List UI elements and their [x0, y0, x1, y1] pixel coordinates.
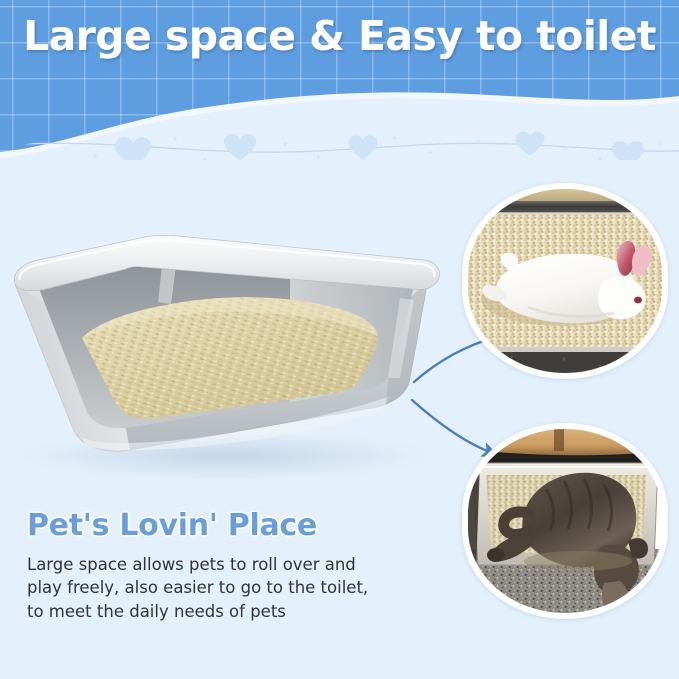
rabbit-photo-rim-edge — [468, 212, 662, 215]
rabbit-eye — [634, 297, 642, 304]
rabbit-photo-counter — [468, 189, 662, 203]
header-banner: Large space & Easy to toilet — [0, 0, 679, 160]
copy-body: Large space allows pets to roll over and… — [27, 553, 447, 623]
copy-body-line: Large space allows pets to roll over and — [27, 553, 447, 576]
page-title: Large space & Easy to toilet — [0, 12, 679, 60]
copy-body-line: to meet the daily needs of pets — [27, 600, 447, 623]
rabbit-photo-back-rail — [468, 201, 662, 213]
rabbit-photo-floor — [468, 352, 662, 373]
cat-photo-wood-seam — [554, 429, 564, 451]
photo-clip — [468, 189, 662, 373]
cat-contact-shadow — [524, 551, 632, 571]
product-feature-image: Large space & Easy to toilet — [0, 0, 679, 679]
copy-block: Pet's Lovin' Place Large space allows pe… — [27, 508, 447, 623]
cat-in-litterbox-photo — [468, 429, 662, 613]
photo-card-rabbit — [462, 183, 668, 379]
product-hero-image — [0, 188, 460, 478]
photo-card-cat — [462, 423, 668, 619]
photo-clip — [468, 429, 662, 613]
rabbit-in-litterbox-photo — [468, 189, 662, 373]
copy-body-line: play freely, also easier to go to the to… — [27, 576, 447, 599]
cat-paw — [487, 548, 505, 562]
litter-box-illustration — [0, 188, 460, 478]
copy-heading: Pet's Lovin' Place — [27, 508, 447, 543]
